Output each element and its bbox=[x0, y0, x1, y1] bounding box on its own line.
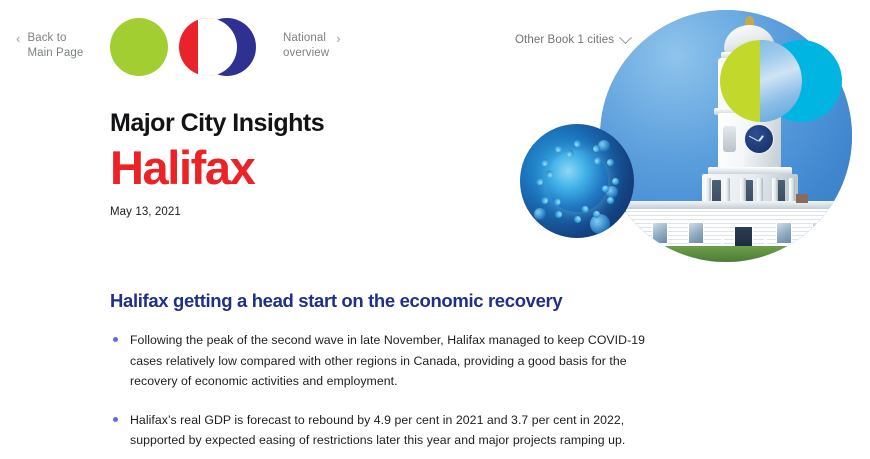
page-kicker: Major City Insights bbox=[110, 108, 324, 138]
virus-speck bbox=[598, 140, 610, 152]
entrance-stairs bbox=[722, 246, 766, 262]
list-item: Halifax’s real GDP is forecast to reboun… bbox=[110, 410, 670, 451]
chimney bbox=[796, 194, 808, 203]
list-item-text: Halifax’s real GDP is forecast to reboun… bbox=[130, 413, 625, 448]
virus-spike bbox=[574, 216, 581, 223]
three-circles-logo bbox=[110, 18, 256, 76]
tower-cornice bbox=[714, 108, 785, 115]
column bbox=[724, 178, 730, 216]
virus-spike bbox=[553, 209, 563, 219]
clock-minute-hand bbox=[749, 135, 759, 141]
national-link-label: National overview bbox=[283, 31, 329, 61]
column bbox=[757, 178, 763, 216]
building-window bbox=[812, 222, 828, 244]
virus-spike bbox=[601, 184, 610, 193]
virus-spike bbox=[574, 140, 581, 147]
virus-spike bbox=[565, 149, 574, 158]
publication-date: May 13, 2021 bbox=[110, 206, 324, 218]
logo-circle-green bbox=[110, 18, 168, 76]
back-link-label: Back to Main Page bbox=[27, 31, 83, 61]
column bbox=[772, 178, 778, 216]
other-cities-dropdown[interactable]: Other Book 1 cities bbox=[515, 34, 630, 46]
courthouse-building bbox=[626, 208, 852, 262]
colonnade-shadow bbox=[744, 180, 753, 214]
stair-railing bbox=[721, 238, 724, 262]
virus-speck bbox=[534, 208, 546, 220]
tower-roofline bbox=[696, 214, 804, 223]
colonnade-shadow bbox=[776, 180, 785, 214]
top-navigation: ‹ Back to Main Page National overview › … bbox=[0, 0, 870, 92]
virus-spike bbox=[605, 195, 615, 205]
section-headline: Halifax getting a head start on the econ… bbox=[110, 290, 562, 312]
clock-hour-hand bbox=[758, 135, 764, 141]
lawn bbox=[600, 246, 852, 262]
tower-panel bbox=[723, 126, 736, 152]
chevron-right-icon: › bbox=[336, 31, 340, 46]
virus-speck bbox=[606, 186, 618, 198]
tower-clock-stage bbox=[718, 113, 781, 169]
virus-spike bbox=[552, 197, 562, 207]
virus-spike bbox=[593, 156, 603, 166]
building-window bbox=[688, 222, 704, 244]
insights-bullet-list: Following the peak of the second wave in… bbox=[110, 330, 670, 459]
virus-spike bbox=[591, 209, 601, 219]
building-window bbox=[776, 222, 792, 244]
back-to-main-page-link[interactable]: ‹ Back to Main Page bbox=[16, 31, 83, 61]
building-roofline bbox=[626, 201, 852, 209]
virus-spike bbox=[539, 195, 549, 205]
building-window bbox=[840, 222, 852, 244]
virus-spike bbox=[545, 169, 554, 178]
stair-railing bbox=[764, 238, 767, 262]
logo-circle-overlap bbox=[198, 18, 237, 76]
covid-virus-image bbox=[520, 124, 634, 238]
virus-spike bbox=[612, 178, 619, 185]
bullet-dot-icon bbox=[113, 337, 118, 342]
major-city-insights-page: ‹ Back to Main Page National overview › … bbox=[0, 0, 870, 459]
column bbox=[740, 178, 746, 216]
bullet-dot-icon bbox=[113, 417, 118, 422]
virus-core bbox=[546, 150, 608, 212]
colonnade-shadow bbox=[712, 180, 721, 214]
column bbox=[705, 178, 711, 216]
virus-speck bbox=[590, 214, 610, 234]
list-item: Following the peak of the second wave in… bbox=[110, 330, 670, 392]
building-door bbox=[734, 226, 753, 252]
chevron-left-icon: ‹ bbox=[16, 31, 20, 46]
tower-colonnade bbox=[702, 174, 798, 218]
tower-base-cornice bbox=[708, 167, 792, 175]
virus-spike bbox=[536, 178, 543, 185]
page-title: Halifax bbox=[110, 140, 324, 196]
other-cities-label: Other Book 1 cities bbox=[515, 34, 614, 46]
clock-face-icon bbox=[744, 124, 774, 154]
title-block: Major City Insights Halifax May 13, 2021 bbox=[110, 108, 324, 218]
column bbox=[789, 178, 795, 216]
national-overview-link[interactable]: National overview › bbox=[283, 31, 341, 61]
virus-spike bbox=[553, 143, 563, 153]
virus-spike bbox=[539, 157, 549, 167]
list-item-text: Following the peak of the second wave in… bbox=[130, 333, 645, 388]
chevron-down-icon bbox=[619, 31, 632, 44]
virus-spike bbox=[580, 205, 589, 214]
building-window bbox=[652, 222, 668, 244]
virus-spike bbox=[591, 143, 601, 153]
virus-spike bbox=[605, 157, 615, 167]
